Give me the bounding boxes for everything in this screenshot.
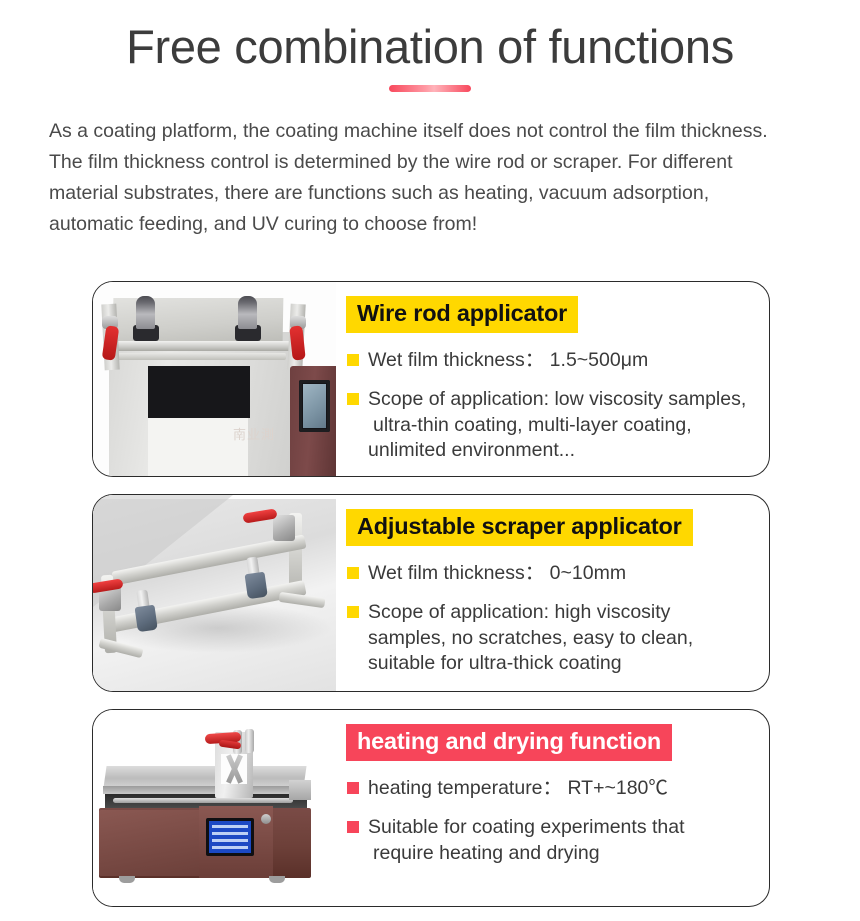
product-photo-adjustable-scraper [93,495,336,691]
bullet-text-line3: suitable for ultra-thick coating [368,651,769,677]
list-item: Wet film thickness： 1.5~500μm [346,348,769,374]
list-item: Wet film thickness： 0~10mm [346,561,769,587]
feature-card-adjustable-scraper[interactable]: Adjustable scraper applicator Wet film t… [92,494,770,692]
intro-paragraph: As a coating platform, the coating machi… [49,116,839,240]
list-item: Scope of application: high viscosity sam… [346,600,769,677]
page-root: Free combination of functions As a coati… [0,0,860,921]
bullet-text-line2: ultra-thin coating, multi-layer coating, [368,413,769,439]
bullet-square-icon [347,821,359,833]
list-item: Suitable for coating experiments that re… [346,815,769,866]
product-photo-heating-drying-machine [93,710,336,906]
bullet-square-icon [347,606,359,618]
bullet-text: Wet film thickness： 1.5~500μm [368,349,648,371]
product-photo-wire-rod-applicator: 南业測 [93,282,336,476]
bullet-square-icon [347,567,359,579]
bullet-text: Suitable for coating experiments that [368,816,685,838]
bullet-text-line2: samples, no scratches, easy to clean, [368,626,769,652]
page-header: Free combination of functions [0,0,860,92]
feature-card-heating-drying[interactable]: heating and drying function heating temp… [92,709,770,907]
intro-line-3: material substrates, there are functions… [49,178,839,209]
card-bullet-list-adjustable-scraper: Wet film thickness： 0~10mm Scope of appl… [346,561,769,677]
bullet-text: Wet film thickness： 0~10mm [368,562,626,584]
page-title: Free combination of functions [0,0,860,74]
card-badge-heating-drying: heating and drying function [346,724,672,761]
intro-line-2: The film thickness control is determined… [49,147,839,178]
card-bullet-list-wire-rod: Wet film thickness： 1.5~500μm Scope of a… [346,348,769,464]
bullet-square-icon [347,782,359,794]
intro-line-4: automatic feeding, and UV curing to choo… [49,209,839,240]
intro-line-1: As a coating platform, the coating machi… [49,116,839,147]
feature-card-list: 南业測 Wire rod applicator Wet film thickne… [92,281,770,907]
bullet-text-line3: unlimited environment... [368,438,769,464]
card-body-adjustable-scraper: Adjustable scraper applicator Wet film t… [336,495,769,691]
card-body-wire-rod: Wire rod applicator Wet film thickness： … [336,282,769,476]
card-bullet-list-heating-drying: heating temperature： RT+~180℃ Suitable f… [346,776,769,867]
bullet-square-icon [347,393,359,405]
bullet-text: heating temperature： RT+~180℃ [368,777,668,799]
title-underline-accent [389,85,471,92]
card-badge-adjustable-scraper: Adjustable scraper applicator [346,509,693,546]
bullet-square-icon [347,354,359,366]
card-badge-wire-rod: Wire rod applicator [346,296,578,333]
bullet-text-line2: require heating and drying [368,841,769,867]
feature-card-wire-rod[interactable]: 南业測 Wire rod applicator Wet film thickne… [92,281,770,477]
card-body-heating-drying: heating and drying function heating temp… [336,710,769,906]
bullet-text: Scope of application: low viscosity samp… [368,388,746,410]
list-item: heating temperature： RT+~180℃ [346,776,769,802]
bullet-text: Scope of application: high viscosity [368,601,670,623]
list-item: Scope of application: low viscosity samp… [346,387,769,464]
photo-watermark: 南业測 [233,424,275,443]
